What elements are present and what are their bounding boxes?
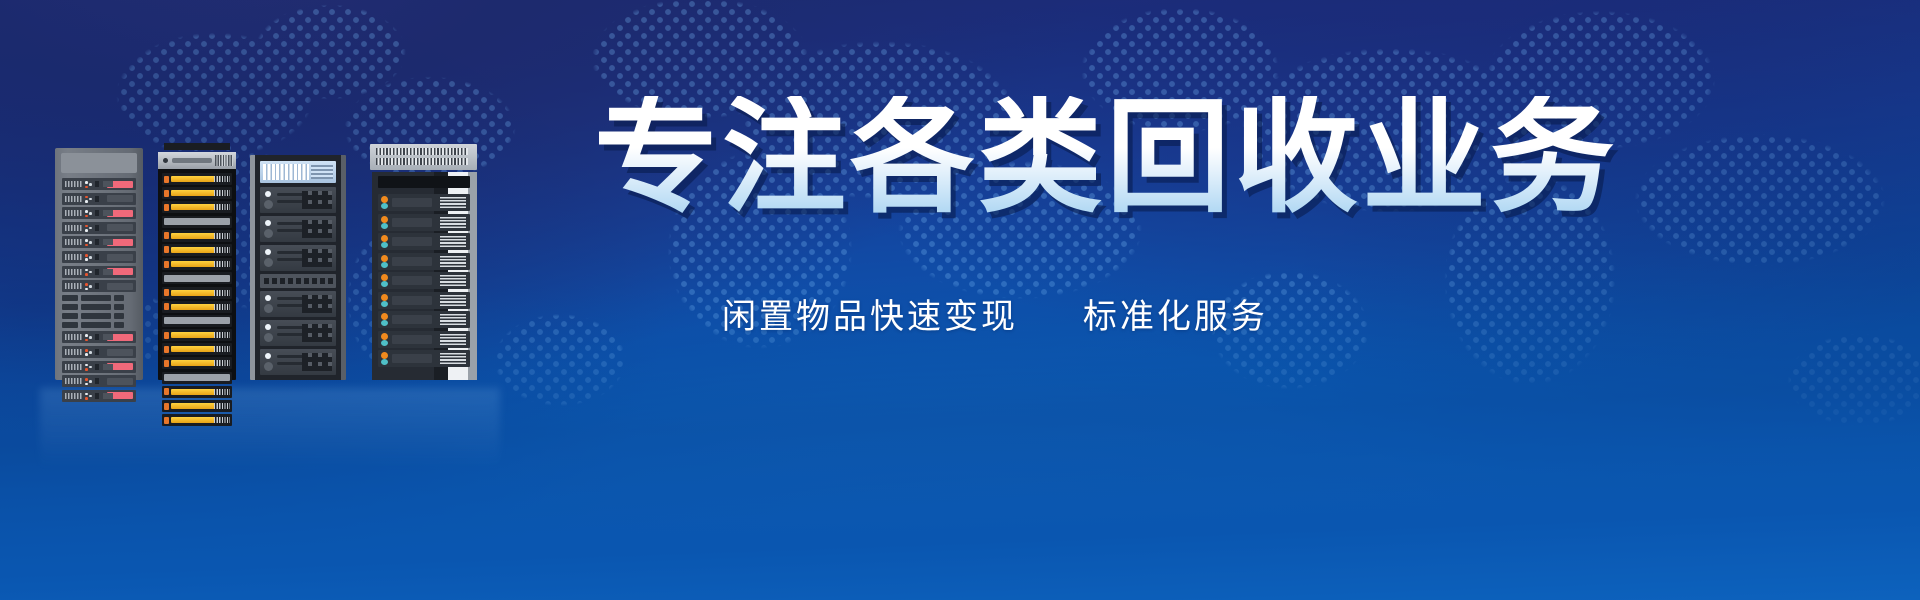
rack-2-cap xyxy=(164,143,230,150)
rack-3-server-bay xyxy=(260,291,336,317)
bay-port-grid-icon xyxy=(302,191,332,209)
bay-led-icon xyxy=(85,397,88,400)
bay-drive-bar xyxy=(392,198,432,207)
rack-1-bays xyxy=(62,178,136,374)
rack-4-vent-row-1 xyxy=(376,148,468,155)
bay-drive-bar xyxy=(392,315,432,324)
rack-4-vent-row-2 xyxy=(376,158,468,165)
bay-led-icon xyxy=(89,351,92,354)
bay-button-icon xyxy=(264,200,273,209)
bay-led-icon xyxy=(89,380,92,383)
blade-filler-panel xyxy=(164,317,230,324)
bay-led-teal-icon xyxy=(381,340,388,346)
blade-vent-icon xyxy=(214,304,230,310)
bay-vent-icon xyxy=(440,275,466,286)
bay-led-icon xyxy=(85,339,88,342)
banner-headline: 专注各类回收业务 xyxy=(594,96,1618,220)
rack-3-port-strip xyxy=(260,274,336,288)
bay-indicator-icon xyxy=(265,249,271,255)
blade-vent-icon xyxy=(214,247,230,253)
bay-indicator-icon xyxy=(265,191,271,197)
bay-indicator-icon xyxy=(265,353,271,359)
blade-gold-bar xyxy=(171,346,217,352)
bay-led-icon xyxy=(85,273,88,276)
blade-handle-icon xyxy=(164,360,169,367)
bay-switch-icon xyxy=(95,393,99,399)
bay-switch-icon xyxy=(95,181,99,187)
port-icon xyxy=(288,278,293,284)
blade-handle-icon xyxy=(164,332,169,339)
bay-drive-bar xyxy=(392,354,432,363)
bay-led-icon xyxy=(85,364,88,367)
bay-status-bar xyxy=(107,224,133,231)
bay-led-icon xyxy=(89,227,92,230)
blade-vent-icon xyxy=(214,290,230,296)
bay-led-icon xyxy=(89,212,92,215)
bay-vent-icon xyxy=(65,225,82,231)
bay-led-icon xyxy=(85,258,88,261)
bay-led-icon xyxy=(85,393,88,396)
rack-2-blade-server xyxy=(162,343,232,355)
bay-led-icon xyxy=(85,229,88,232)
rack-2-header-unit xyxy=(158,152,236,169)
rack-4-server-bay xyxy=(378,272,470,289)
bay-button-icon xyxy=(264,333,273,342)
bay-vent-icon xyxy=(440,236,466,247)
blade-filler-panel xyxy=(164,218,230,225)
rack-1-server-bay xyxy=(62,236,136,248)
blade-vent-icon xyxy=(214,389,230,395)
bay-switch-icon xyxy=(95,225,99,231)
hero-banner: 专注各类回收业务 闲置物品快速变现 标准化服务 xyxy=(0,0,1920,600)
blade-vent-icon xyxy=(214,261,230,267)
bay-status-bar xyxy=(107,254,133,261)
rack-2-blade-server xyxy=(162,230,232,242)
bay-switch-icon xyxy=(95,269,99,275)
bay-drive-bar xyxy=(392,335,432,344)
rack-2-power-led-icon xyxy=(163,158,168,163)
bay-status-bar xyxy=(107,378,133,385)
rack-1-server-bay xyxy=(62,280,136,292)
rack-4-server-bay xyxy=(378,253,470,270)
bay-vent-icon xyxy=(65,254,82,260)
bay-vent-icon xyxy=(65,269,82,275)
bay-led-orange-icon xyxy=(381,333,388,340)
rack-4-server-bay xyxy=(378,311,470,328)
bay-switch-icon xyxy=(95,334,99,340)
bay-switch-icon xyxy=(95,364,99,370)
blade-filler-panel xyxy=(164,275,230,282)
bay-led-icon xyxy=(89,285,92,288)
rack-2-blade-server xyxy=(162,272,232,284)
bay-led-orange-icon xyxy=(381,294,388,301)
blade-vent-icon xyxy=(214,346,230,352)
bay-led-icon xyxy=(89,198,92,201)
bay-led-teal-icon xyxy=(381,320,388,326)
blade-vent-icon xyxy=(214,332,230,338)
rack-2-blade-server xyxy=(162,315,232,327)
blade-handle-icon xyxy=(164,403,169,410)
bay-vent-icon xyxy=(440,217,466,228)
rack-1-server-bay xyxy=(62,331,136,343)
rack-1-server-bay xyxy=(62,251,136,263)
bay-status-bar xyxy=(107,349,133,356)
bay-led-orange-icon xyxy=(381,274,388,281)
bay-led-icon xyxy=(89,271,92,274)
blade-vent-icon xyxy=(214,233,230,239)
port-icon xyxy=(272,278,277,284)
server-rack-3 xyxy=(250,155,346,380)
server-rack-1 xyxy=(55,148,143,380)
blade-handle-icon xyxy=(164,190,169,197)
bay-button-icon xyxy=(264,229,273,238)
server-rack-2 xyxy=(158,152,236,380)
rack-3-server-bay xyxy=(260,187,336,213)
bay-vent-icon xyxy=(440,197,466,208)
rack-3-front-panel xyxy=(260,161,336,183)
bay-led-orange-icon xyxy=(381,313,388,320)
subtitle-part-2: 标准化服务 xyxy=(1083,298,1268,336)
blade-gold-bar xyxy=(171,403,217,409)
port-icon xyxy=(304,278,309,284)
bay-led-icon xyxy=(85,368,88,371)
bay-led-orange-icon xyxy=(381,216,388,223)
rack-2-blade-server xyxy=(162,400,232,412)
bay-led-teal-icon xyxy=(381,359,388,365)
blade-handle-icon xyxy=(164,417,169,424)
bay-switch-icon xyxy=(95,210,99,216)
bay-vent-icon xyxy=(440,295,466,306)
rack-2-blade-server xyxy=(162,244,232,256)
port-icon xyxy=(312,278,317,284)
rack-3-server-bay xyxy=(260,349,336,375)
bay-led-icon xyxy=(89,366,92,369)
bay-vent-icon xyxy=(65,181,82,187)
rack-2-blade-server xyxy=(162,414,232,426)
bay-module-icon xyxy=(103,239,113,245)
bay-led-icon xyxy=(85,288,88,291)
rack-1-server-bay xyxy=(62,207,136,219)
bay-led-teal-icon xyxy=(381,242,388,248)
bay-vent-icon xyxy=(65,349,82,355)
rack-2-blade-server xyxy=(162,187,232,199)
port-icon xyxy=(328,278,333,284)
rack-4-server-bay xyxy=(378,292,470,309)
bay-drive-bar xyxy=(392,237,432,246)
bay-port-grid-icon xyxy=(302,295,332,313)
bay-port-grid-icon xyxy=(302,249,332,267)
rack-4-server-bay xyxy=(378,194,470,211)
bay-module-icon xyxy=(103,364,113,370)
blade-vent-icon xyxy=(214,176,230,182)
blade-handle-icon xyxy=(164,261,169,268)
bay-status-bar xyxy=(107,283,133,290)
port-icon xyxy=(296,278,301,284)
bay-switch-icon xyxy=(95,283,99,289)
bay-led-icon xyxy=(85,196,88,199)
blade-handle-icon xyxy=(164,204,169,211)
bay-led-teal-icon xyxy=(381,203,388,209)
blade-handle-icon xyxy=(164,346,169,353)
blade-handle-icon xyxy=(164,289,169,296)
bay-vent-icon xyxy=(440,256,466,267)
bay-port-grid-icon xyxy=(302,353,332,371)
bay-drive-bar xyxy=(392,296,432,305)
port-icon xyxy=(320,278,325,284)
rack-1-server-bay xyxy=(62,346,136,358)
bay-drive-bar xyxy=(392,257,432,266)
bay-led-icon xyxy=(85,283,88,286)
rack-2-bays xyxy=(162,173,232,428)
bay-switch-icon xyxy=(95,196,99,202)
bay-vent-icon xyxy=(65,364,82,370)
blade-vent-icon xyxy=(214,190,230,196)
rack-2-blade-server xyxy=(162,201,232,213)
bay-vent-icon xyxy=(440,353,466,364)
rack-2-blade-server xyxy=(162,258,232,270)
bay-vent-icon xyxy=(440,314,466,325)
blade-handle-icon xyxy=(164,176,169,183)
blade-vent-icon xyxy=(214,204,230,210)
bay-led-icon xyxy=(89,395,92,398)
rack-1-server-bay xyxy=(62,222,136,234)
rack-3-server-bay xyxy=(260,320,336,346)
bay-led-teal-icon xyxy=(381,281,388,287)
bay-drive-bar xyxy=(392,218,432,227)
bay-led-icon xyxy=(85,200,88,203)
blade-vent-icon xyxy=(214,417,230,423)
bay-vent-icon xyxy=(440,334,466,345)
bay-vent-icon xyxy=(65,378,82,384)
bay-switch-icon xyxy=(95,239,99,245)
bay-led-orange-icon xyxy=(381,255,388,262)
rack-3-panel-stripes xyxy=(263,164,309,180)
bay-led-icon xyxy=(85,215,88,218)
bay-switch-icon xyxy=(95,349,99,355)
port-icon xyxy=(280,278,285,284)
rack-1-top-panel xyxy=(61,153,137,173)
blade-handle-icon xyxy=(164,388,169,395)
rack-4-server-bay xyxy=(378,350,470,367)
rack-3-bays xyxy=(260,187,336,378)
rack-4-server-bay xyxy=(378,331,470,348)
bay-led-icon xyxy=(85,334,88,337)
bay-module-icon xyxy=(103,210,113,216)
bay-led-icon xyxy=(85,378,88,381)
rack-1-server-bay xyxy=(62,375,136,387)
rack-3-server-bay xyxy=(260,216,336,242)
rack-2-header-vent xyxy=(215,155,233,166)
blade-gold-bar xyxy=(171,190,217,196)
bay-led-teal-icon xyxy=(381,262,388,268)
rack-2-blade-server xyxy=(162,372,232,384)
bay-led-icon xyxy=(85,269,88,272)
blade-handle-icon xyxy=(164,232,169,239)
bay-drive-bar xyxy=(392,276,432,285)
rack-4-server-bay xyxy=(378,214,470,231)
bay-led-orange-icon xyxy=(381,235,388,242)
rack-2-blade-server xyxy=(162,301,232,313)
rack-3-panel-grid xyxy=(311,165,333,179)
blade-gold-bar xyxy=(171,304,217,310)
rack-2-blade-server xyxy=(162,173,232,185)
blade-gold-bar xyxy=(171,247,217,253)
rack-4-top-unit xyxy=(370,144,477,170)
rack-2-blade-server xyxy=(162,216,232,228)
rack-1-server-bay xyxy=(62,390,136,402)
bay-led-orange-icon xyxy=(381,352,388,359)
rack-1-patch-panel xyxy=(62,295,136,329)
bay-led-icon xyxy=(85,383,88,386)
bay-led-icon xyxy=(85,244,88,247)
bay-vent-icon xyxy=(65,210,82,216)
bay-module-icon xyxy=(103,334,113,340)
rack-1-server-bay xyxy=(62,266,136,278)
rack-1-server-bay xyxy=(62,178,136,190)
rack-2-blade-server xyxy=(162,329,232,341)
bay-vent-icon xyxy=(65,196,82,202)
bay-button-icon xyxy=(264,362,273,371)
server-rack-4 xyxy=(372,172,477,380)
bay-vent-icon xyxy=(65,393,82,399)
bay-led-icon xyxy=(85,353,88,356)
rack-2-blade-server xyxy=(162,357,232,369)
blade-vent-icon xyxy=(214,403,230,409)
rack-4-server-bay xyxy=(378,233,470,250)
bay-button-icon xyxy=(264,304,273,313)
bay-led-teal-icon xyxy=(381,301,388,307)
bay-module-icon xyxy=(103,269,113,275)
rack-3-server-bay xyxy=(260,245,336,271)
bay-switch-icon xyxy=(95,254,99,260)
rack-1-server-bay xyxy=(62,361,136,373)
bay-led-icon xyxy=(89,336,92,339)
blade-vent-icon xyxy=(214,360,230,366)
bay-led-icon xyxy=(89,183,92,186)
bay-led-icon xyxy=(85,254,88,257)
bay-led-orange-icon xyxy=(381,196,388,203)
bay-indicator-icon xyxy=(265,220,271,226)
bay-indicator-icon xyxy=(265,295,271,301)
bay-led-icon xyxy=(85,239,88,242)
bay-led-icon xyxy=(85,186,88,189)
bay-led-icon xyxy=(89,241,92,244)
server-rack-illustration xyxy=(0,0,540,600)
bay-port-grid-icon xyxy=(302,324,332,342)
bay-vent-icon xyxy=(65,334,82,340)
bay-led-icon xyxy=(89,256,92,259)
blade-handle-icon xyxy=(164,246,169,253)
rack-2-blade-server xyxy=(162,287,232,299)
bay-button-icon xyxy=(264,258,273,267)
bay-module-icon xyxy=(103,181,113,187)
bay-status-bar xyxy=(107,195,133,202)
bay-vent-icon xyxy=(65,239,82,245)
rack-4-black-bar xyxy=(378,176,470,188)
bay-led-icon xyxy=(85,181,88,184)
rack-4-bays xyxy=(378,194,470,370)
bay-port-grid-icon xyxy=(302,220,332,238)
bay-switch-icon xyxy=(95,378,99,384)
subtitle-part-1: 闲置物品快速变现 xyxy=(722,298,1018,336)
blade-filler-panel xyxy=(164,374,230,381)
blade-handle-icon xyxy=(164,303,169,310)
port-icon xyxy=(264,278,269,284)
bay-led-teal-icon xyxy=(381,223,388,229)
rack-2-blade-server xyxy=(162,386,232,398)
bay-led-icon xyxy=(85,210,88,213)
rack-1-server-bay xyxy=(62,193,136,205)
bay-module-icon xyxy=(103,393,113,399)
rack-2-header-bar xyxy=(172,158,212,163)
bay-indicator-icon xyxy=(265,324,271,330)
bay-vent-icon xyxy=(65,283,82,289)
bay-led-icon xyxy=(85,225,88,228)
banner-subtitle: 闲置物品快速变现 标准化服务 xyxy=(722,300,1268,334)
bay-led-icon xyxy=(85,349,88,352)
